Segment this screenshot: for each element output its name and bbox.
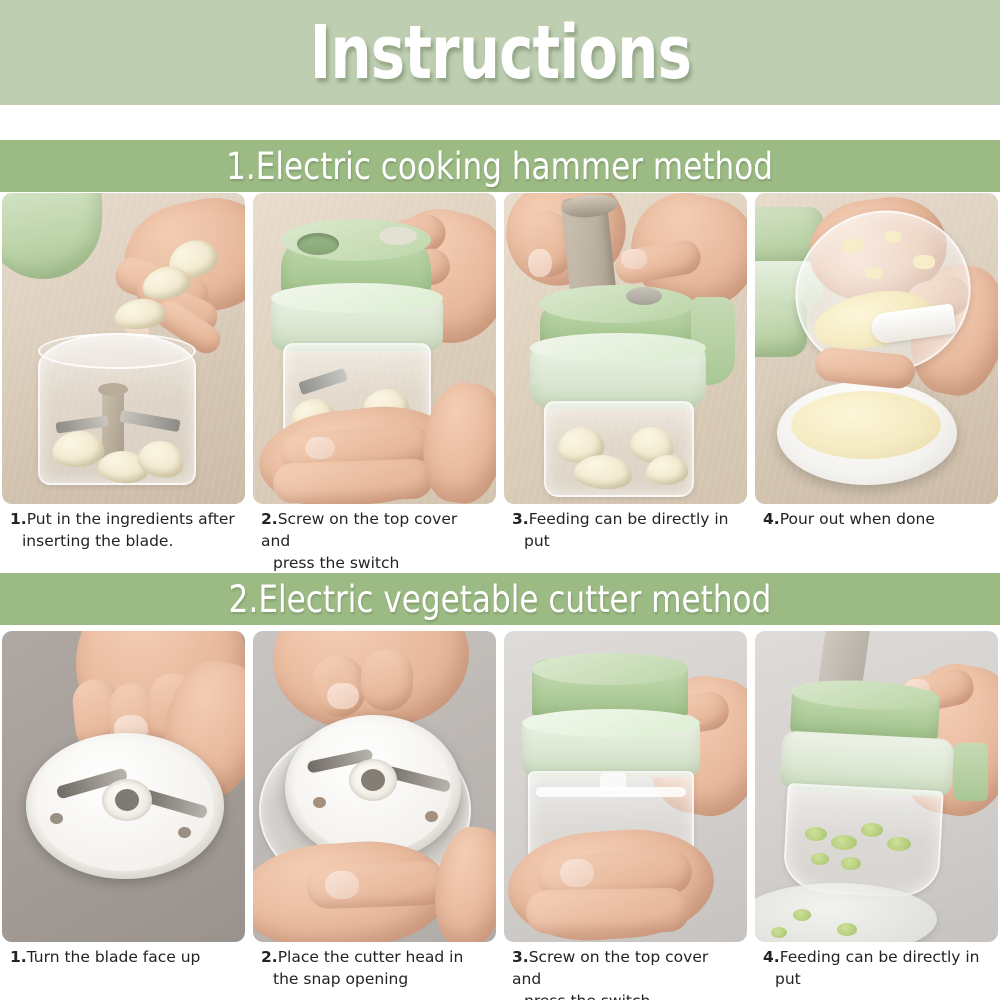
step-text-line1: Screw on the top cover and	[512, 948, 708, 988]
step-caption-2-4: 4.Feeding can be directly in put	[755, 946, 998, 1000]
step-text-line2: press the switch	[261, 552, 490, 574]
step-number: 4.	[763, 948, 780, 966]
step-text-line2: put	[763, 968, 992, 990]
step-image-1-1	[2, 193, 245, 504]
page-title: Instructions	[309, 16, 690, 90]
step-image-2-4	[755, 631, 998, 942]
step-caption-2-1: 1.Turn the blade face up	[2, 946, 245, 1000]
section-2-caption-row: 1.Turn the blade face up 2.Place the cut…	[0, 946, 1000, 1000]
step-number: 3.	[512, 948, 529, 966]
step-image-1-4	[755, 193, 998, 504]
section-2-title: 2.Electric vegetable cutter method	[229, 581, 772, 618]
step-image-2-3	[504, 631, 747, 942]
step-image-1-3	[504, 193, 747, 504]
step-text-line1: Pour out when done	[780, 510, 935, 528]
step-text-line2: the snap opening	[261, 968, 490, 990]
step-text-line1: Place the cutter head in	[278, 948, 464, 966]
section-1-title: 1.Electric cooking hammer method	[227, 148, 774, 185]
step-caption-1-3: 3.Feeding can be directly in put	[504, 508, 747, 570]
section-2-image-row	[0, 631, 1000, 942]
step-text-line1: Feeding can be directly in	[529, 510, 729, 528]
step-text-line1: Feeding can be directly in	[780, 948, 980, 966]
step-caption-1-4: 4.Pour out when done	[755, 508, 998, 570]
step-image-2-1	[2, 631, 245, 942]
step-caption-1-2: 2.Screw on the top cover and press the s…	[253, 508, 496, 570]
section-header-1: 1.Electric cooking hammer method	[0, 140, 1000, 192]
section-1-image-row	[0, 193, 1000, 504]
step-text-line2: press the switch	[512, 990, 741, 1000]
step-number: 2.	[261, 948, 278, 966]
step-text-line2: put	[512, 530, 741, 552]
step-image-2-2	[253, 631, 496, 942]
step-number: 3.	[512, 510, 529, 528]
step-text-line1: Screw on the top cover and	[261, 510, 457, 550]
step-text-line1: Put in the ingredients after	[27, 510, 235, 528]
title-banner: Instructions	[0, 0, 1000, 105]
step-image-1-2	[253, 193, 496, 504]
section-header-2: 2.Electric vegetable cutter method	[0, 573, 1000, 625]
step-caption-2-3: 3.Screw on the top cover and press the s…	[504, 946, 747, 1000]
step-text-line1: Turn the blade face up	[27, 948, 201, 966]
step-number: 1.	[10, 948, 27, 966]
step-caption-1-1: 1.Put in the ingredients after inserting…	[2, 508, 245, 570]
step-number: 1.	[10, 510, 27, 528]
section-1-caption-row: 1.Put in the ingredients after inserting…	[0, 508, 1000, 570]
step-number: 4.	[763, 510, 780, 528]
step-caption-2-2: 2.Place the cutter head in the snap open…	[253, 946, 496, 1000]
step-text-line2: inserting the blade.	[10, 530, 239, 552]
step-number: 2.	[261, 510, 278, 528]
instructions-page: Instructions 1.Electric cooking hammer m…	[0, 0, 1000, 1000]
